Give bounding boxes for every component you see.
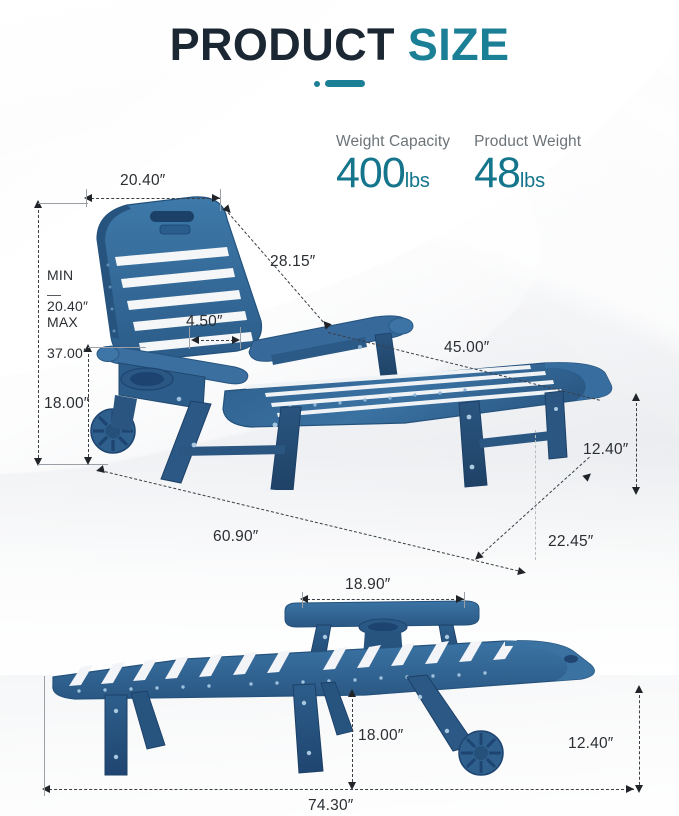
label-min: MIN xyxy=(47,267,73,283)
stats-row: Weight Capacity 400lbs Product Weight 48… xyxy=(336,133,581,195)
guide-arm-gap-tick-right xyxy=(240,327,241,349)
guide-flat-seat-height-line xyxy=(352,694,353,787)
dimension-overall-length: 60.90″ xyxy=(213,528,258,546)
guide-top-width-arrow-right xyxy=(212,194,220,202)
guide-top-width-line xyxy=(86,198,220,199)
guide-seat-height-arrow-down xyxy=(84,457,92,465)
guide-arm-gap-arrow-left xyxy=(191,336,199,344)
guide-flat-foot-height-line xyxy=(639,690,640,790)
guide-front-width-line xyxy=(302,599,464,600)
guide-foot-height-line xyxy=(636,398,637,492)
dimension-flat-seat-height: 18.00″ xyxy=(358,727,403,745)
stat-weight-capacity: Weight Capacity 400lbs xyxy=(336,133,450,195)
guide-foot-height-arrow-down xyxy=(632,487,640,495)
guide-back-height-line xyxy=(38,205,39,463)
dimension-seat-length: 45.00″ xyxy=(444,339,489,357)
dimension-top-width: 20.40″ xyxy=(120,172,165,190)
guide-depth-helper-vertical xyxy=(535,430,536,560)
dimension-front-width: 18.90″ xyxy=(345,576,390,594)
stat-product-weight: Product Weight 48lbs xyxy=(474,133,581,195)
guide-top-width-tick-right xyxy=(220,189,221,211)
value-max: 37.00″ xyxy=(47,345,88,361)
divider-dot-icon xyxy=(314,81,320,87)
dimension-flat-foot-height: 12.40″ xyxy=(568,735,613,753)
product-size-infographic: PRODUCT SIZE Weight Capacity 400lbs Prod… xyxy=(0,0,679,816)
dimension-flat-length: 74.30″ xyxy=(308,797,353,815)
dimension-seat-height: 18.00″ xyxy=(44,395,89,413)
guide-flat-length-line xyxy=(44,789,634,790)
guide-front-width-arrow-right xyxy=(456,595,464,603)
title-divider xyxy=(0,80,679,87)
guide-foot-height-arrow-up xyxy=(632,393,640,401)
guide-flat-length-arrow-right xyxy=(626,785,634,793)
guide-arm-gap-arrow-right xyxy=(232,336,240,344)
stat-unit: lbs xyxy=(520,170,545,192)
page-title: PRODUCT SIZE xyxy=(0,22,679,67)
guide-back-height-arrow-up xyxy=(34,200,42,208)
header: PRODUCT SIZE xyxy=(0,22,679,87)
guide-front-width-tick-right xyxy=(464,592,465,608)
guide-front-width-tick-left xyxy=(302,592,303,608)
dimension-back-height-max: MAX 37.00″ xyxy=(47,299,88,362)
guide-flat-length-tick-left xyxy=(44,676,45,796)
stat-number: 400 xyxy=(336,149,405,197)
label-max: MAX xyxy=(47,314,78,330)
guide-arm-gap-line xyxy=(196,340,234,341)
chaise-lounge-perspective-illustration xyxy=(75,195,635,490)
guide-flat-seat-height-arrow-up xyxy=(348,689,356,697)
stat-number: 48 xyxy=(474,149,520,197)
title-word-size: SIZE xyxy=(408,19,510,70)
guide-seat-height-tick-top xyxy=(88,347,146,348)
stat-value: 48lbs xyxy=(474,152,581,195)
dimension-overall-depth: 22.45″ xyxy=(548,533,593,551)
divider-bar-icon xyxy=(325,80,365,87)
dimension-arm-gap: 4.50″ xyxy=(186,313,223,331)
guide-top-width-tick-left xyxy=(86,189,87,207)
dimension-foot-height: 12.40″ xyxy=(583,441,628,459)
guide-flat-foot-height-arrow-down xyxy=(635,785,643,793)
dimension-backrest-length: 28.15″ xyxy=(270,253,315,271)
guide-back-height-tick-bottom xyxy=(38,464,108,465)
guide-seat-height-arrow-up xyxy=(84,344,92,352)
stat-unit: lbs xyxy=(405,170,430,192)
stat-value: 400lbs xyxy=(336,152,450,195)
title-word-product: PRODUCT xyxy=(170,19,395,70)
guide-flat-foot-height-arrow-up xyxy=(635,685,643,693)
chaise-lounge-flat-illustration xyxy=(35,585,635,785)
guide-back-height-tick-top xyxy=(38,203,88,204)
